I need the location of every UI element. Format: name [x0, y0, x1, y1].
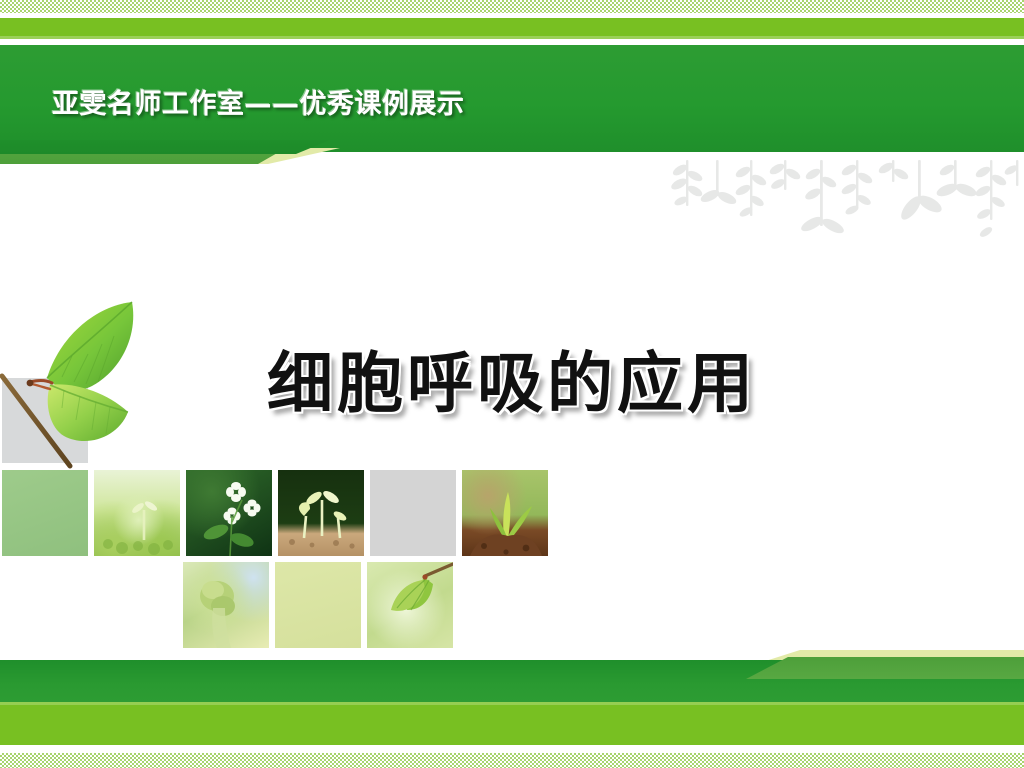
slide-canvas: 亚雯名师工作室——优秀课例展示	[0, 0, 1024, 768]
banner-bottom-light-band	[0, 702, 1024, 745]
hatch-texture-bottom	[0, 753, 1024, 768]
white-flowers-glyph	[186, 470, 272, 556]
hatch-texture-top	[0, 0, 1024, 13]
collage-tile-grass-sprout-soil	[462, 470, 548, 556]
leaf-pair-glyph	[367, 562, 453, 648]
header-title: 亚雯名师工作室——优秀课例展示	[52, 82, 465, 121]
collage-tile-three-seedlings	[278, 470, 364, 556]
collage-tile-bud-closeup	[183, 562, 269, 648]
three-seedlings-glyph	[278, 470, 364, 556]
sprout-glyph	[94, 470, 180, 556]
main-title: 细胞呼吸的应用	[0, 330, 1024, 426]
banner-bottom-step-shape	[740, 657, 1024, 679]
grass-sprout-glyph	[462, 470, 548, 556]
banner-top-light-band	[0, 18, 1024, 39]
collage-tile-leaf-pair	[367, 562, 453, 648]
collage-tile-white-flowers	[186, 470, 272, 556]
collage-tile-sprout-moss	[94, 470, 180, 556]
collage-tile-solid-green	[2, 470, 88, 556]
green-bud-glyph	[183, 562, 269, 648]
collage-tile-solid-gray	[370, 470, 456, 556]
collage-tile-solid-palegreen	[275, 562, 361, 648]
hanging-vine-decor-icon	[668, 160, 1024, 260]
